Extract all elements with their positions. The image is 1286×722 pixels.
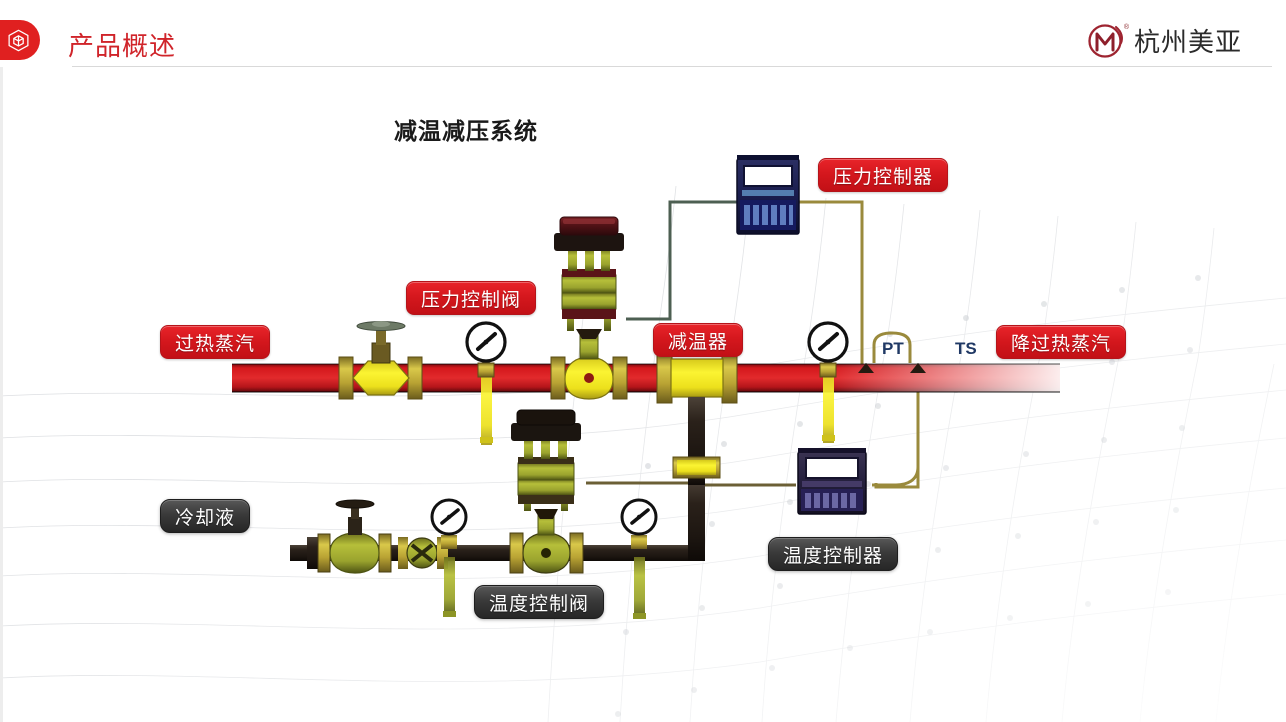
pressure-controller-device (737, 155, 799, 234)
schematic-svg (0, 67, 1286, 722)
label-superheated-steam[interactable]: 过热蒸汽 (160, 325, 270, 359)
page-header: 产品概述 ® 杭州美亚 (0, 0, 1286, 67)
temperature-controller-device (798, 448, 866, 514)
label-temperature-controller[interactable]: 温度控制器 (768, 537, 898, 571)
label-desuperheater[interactable]: 减温器 (653, 323, 743, 357)
header-badge (0, 20, 40, 60)
sensor-label-pt: PT (882, 339, 904, 359)
coolant-strainer (398, 537, 448, 569)
signal-wires (586, 202, 918, 487)
brand-name: 杭州美亚 (1134, 22, 1242, 59)
pressure-control-valve (551, 217, 627, 399)
sensor-label-ts: TS (955, 339, 977, 359)
meiya-m-circle-icon: ® (1083, 18, 1127, 62)
cube-hexagon-icon (6, 28, 31, 53)
label-pressure-control-valve[interactable]: 压力控制阀 (406, 281, 536, 315)
label-desuperheated-steam[interactable]: 降过热蒸汽 (996, 325, 1126, 359)
page-title: 产品概述 (68, 26, 176, 63)
steam-gate-valve (339, 321, 422, 399)
process-diagram: 减温减压系统 (0, 67, 1286, 722)
label-coolant[interactable]: 冷却液 (160, 499, 250, 533)
registered-trademark-symbol: ® (1124, 24, 1129, 31)
coolant-gate-valve (307, 500, 391, 573)
brand-logo: ® 杭州美亚 (1083, 18, 1242, 62)
temperature-control-valve (510, 410, 583, 573)
label-temperature-control-valve[interactable]: 温度控制阀 (474, 585, 604, 619)
slide-page: 产品概述 ® 杭州美亚 减温减压系统 (0, 0, 1286, 722)
label-pressure-controller[interactable]: 压力控制器 (818, 158, 948, 192)
